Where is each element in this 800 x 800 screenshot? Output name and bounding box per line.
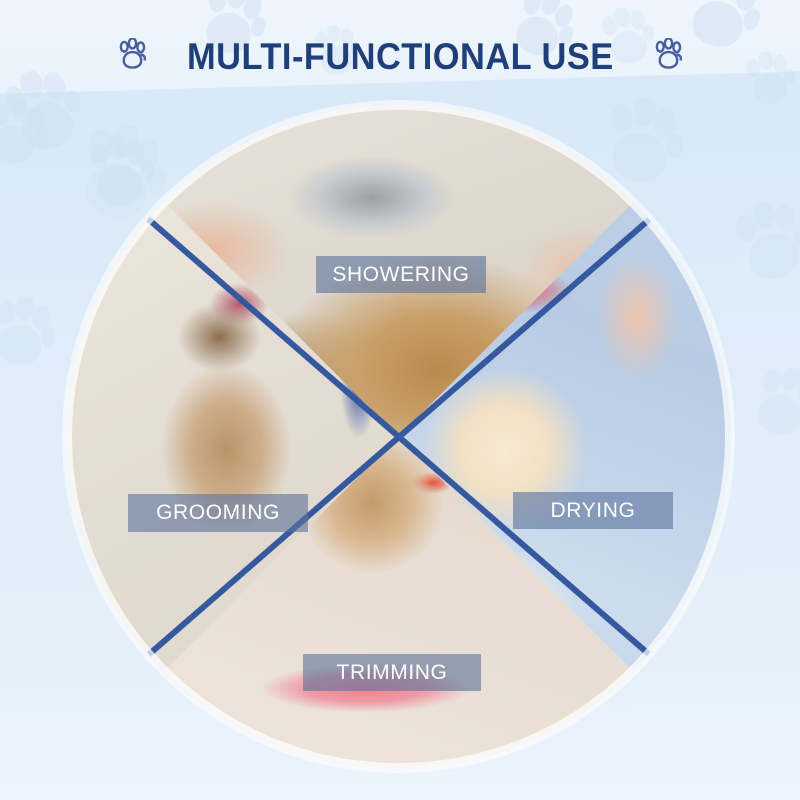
label-trimming-text: TRIMMING bbox=[337, 661, 448, 685]
label-grooming-text: GROOMING bbox=[156, 501, 280, 525]
label-showering-text: SHOWERING bbox=[332, 263, 469, 287]
promo-poster: MULTI-FUNCTIONAL USE bbox=[0, 0, 800, 800]
label-showering: SHOWERING bbox=[316, 256, 486, 293]
label-drying: DRYING bbox=[513, 492, 673, 529]
label-grooming: GROOMING bbox=[128, 494, 308, 532]
poster-header: MULTI-FUNCTIONAL USE bbox=[0, 28, 800, 86]
paw-print-icon bbox=[117, 38, 147, 77]
paw-print-icon bbox=[653, 38, 683, 77]
page-title: MULTI-FUNCTIONAL USE bbox=[187, 36, 614, 78]
label-drying-text: DRYING bbox=[551, 499, 636, 523]
label-trimming: TRIMMING bbox=[303, 654, 481, 691]
